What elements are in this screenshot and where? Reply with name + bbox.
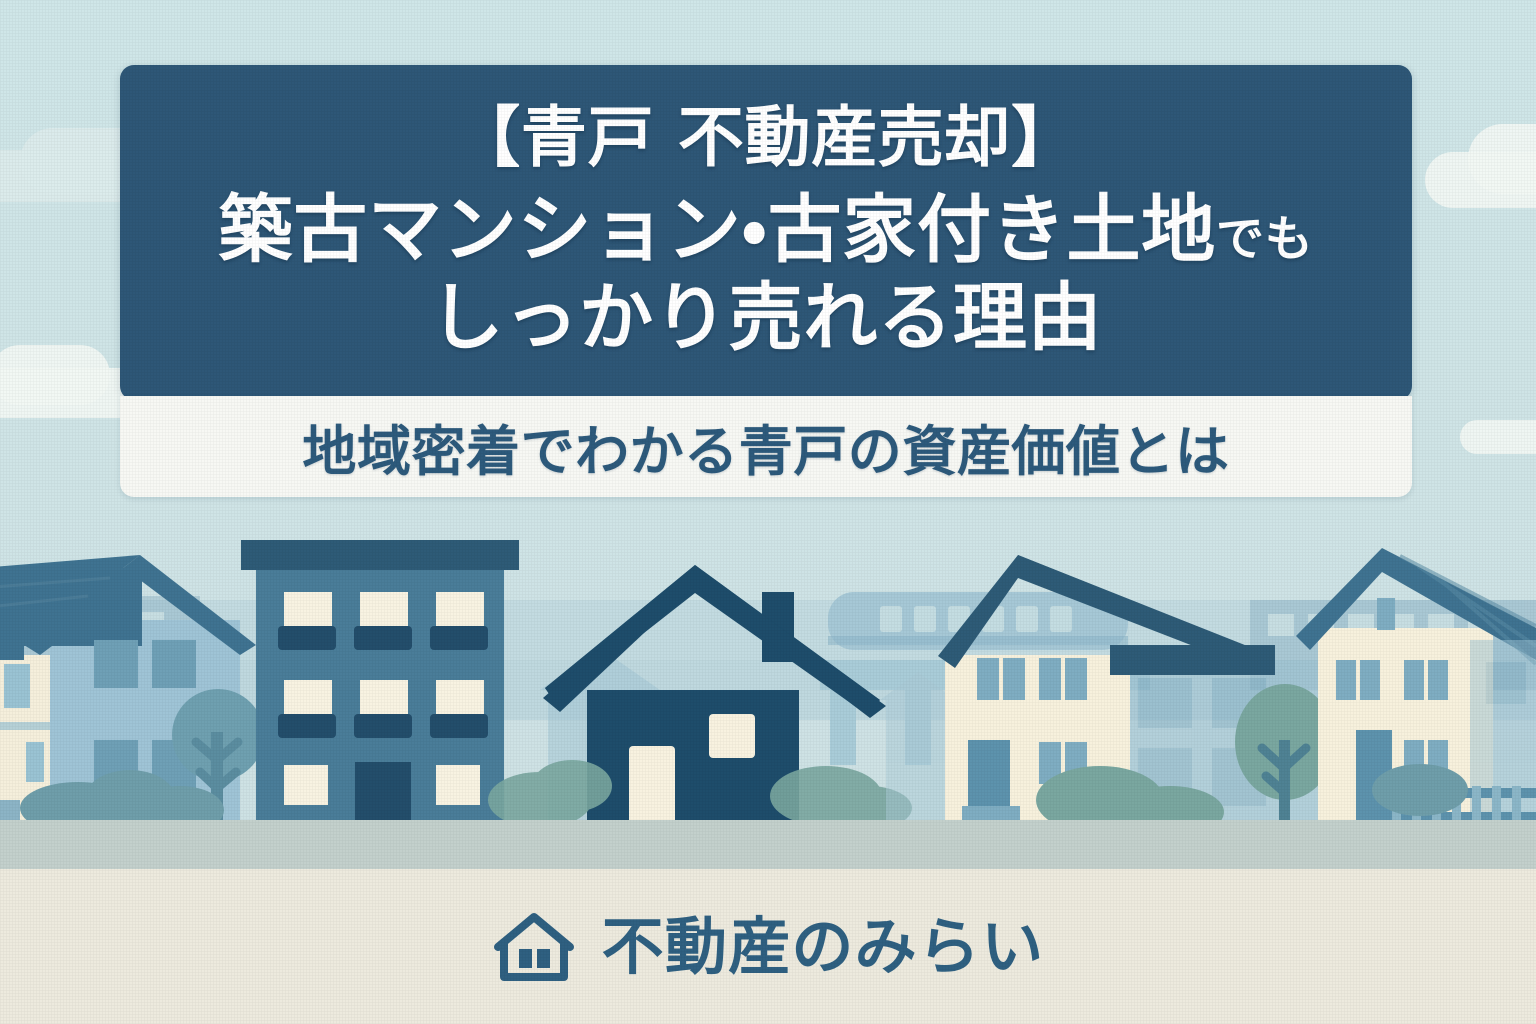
subtitle-bar: 地域密着でわかる青戸の資産価値とは: [120, 396, 1412, 497]
apartment-building: [241, 540, 519, 823]
subtitle-text: 地域密着でわかる青戸の資産価値とは: [302, 407, 1229, 486]
title-line-1: 【青戸 不動産売却】: [454, 101, 1078, 175]
title-line-2: 築古マンション・古家付き土地でも: [218, 189, 1313, 272]
ground-strip: [0, 820, 1536, 870]
cream-house: [880, 672, 956, 823]
bush: [1372, 764, 1468, 816]
brand-name: 不動産のみらい: [602, 916, 1045, 978]
hero-banner: 不動産のみらい 【青戸 不動産売却】 築古マンション・古家付き土地でも しっかり…: [0, 0, 1536, 1024]
title-line-2-main: 築古マンション・古家付き土地: [218, 187, 1216, 273]
title-card: 【青戸 不動産売却】 築古マンション・古家付き土地でも しっかり売れる理由: [120, 65, 1412, 400]
brand-logo[interactable]: 不動産のみらい: [0, 869, 1536, 1024]
title-line-3: しっかり売れる理由: [430, 277, 1103, 360]
title-line-2-suffix: でも: [1216, 211, 1313, 267]
house-outline-icon: [492, 909, 576, 985]
